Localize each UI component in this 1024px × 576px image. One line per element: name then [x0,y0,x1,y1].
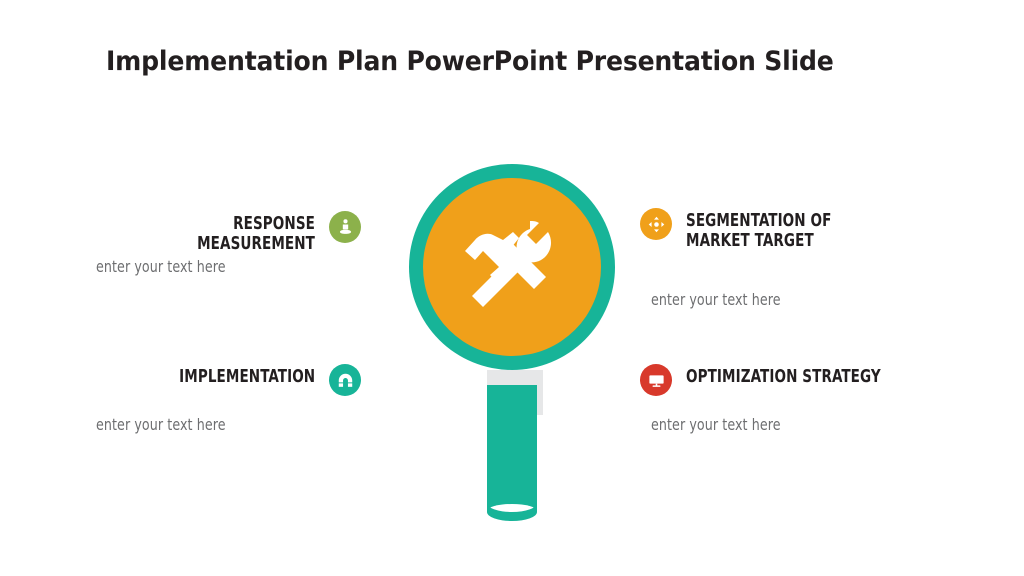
page-title: Implementation Plan PowerPoint Presentat… [106,44,869,80]
placeholder-text[interactable]: enter your text here [96,257,226,276]
monitor-icon [640,364,672,396]
placeholder-text[interactable]: enter your text here [96,415,226,434]
placeholder-text[interactable]: enter your text here [651,290,781,309]
magnifier-handle [487,385,537,512]
callout-label: IMPLEMENTATION [179,364,315,387]
callout-segmentation-of-market-target[interactable]: SEGMENTATION OF MARKET TARGET [640,208,930,251]
callout-implementation[interactable]: IMPLEMENTATION [160,364,361,396]
callout-label: RESPONSE MEASUREMENT [130,211,315,254]
target-move-icon [640,208,672,240]
placeholder-text[interactable]: enter your text here [651,415,781,434]
presentation-slide: Implementation Plan PowerPoint Presentat… [0,0,1024,576]
callout-label: SEGMENTATION OF MARKET TARGET [686,208,831,251]
callout-response-measurement[interactable]: RESPONSE MEASUREMENT [100,211,361,254]
callout-optimization-strategy[interactable]: OPTIMIZATION STRATEGY [640,364,930,396]
presenter-person-icon [329,211,361,243]
magnet-icon [329,364,361,396]
callout-label: OPTIMIZATION STRATEGY [686,364,881,387]
magnifying-glass-graphic [400,155,630,525]
